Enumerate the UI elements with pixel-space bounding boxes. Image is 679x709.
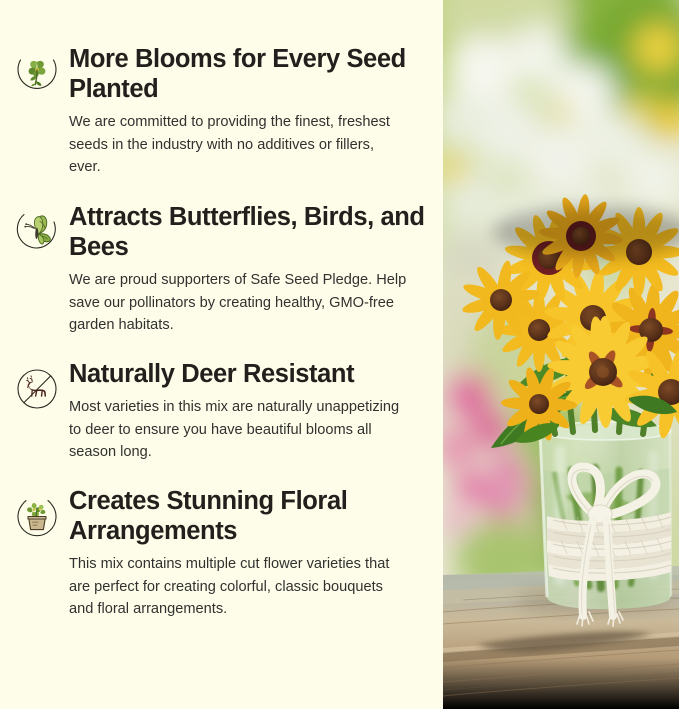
feature-description: We are proud supporters of Safe Seed Ple…: [69, 269, 409, 337]
feature-description: Most varieties in this mix are naturally…: [69, 396, 409, 464]
feature-text: Attracts Butterflies, Birds, and Bees We…: [69, 202, 443, 337]
black-eyed-susan-bouquet-photo: [443, 0, 679, 709]
feature-item-deer-resistant: Naturally Deer Resistant Most varieties …: [0, 359, 443, 464]
butterfly-icon: [4, 202, 69, 256]
features-list: More Blooms for Every Seed Planted We ar…: [0, 0, 443, 709]
feature-title: More Blooms for Every Seed Planted: [69, 44, 425, 104]
feature-item-attracts-pollinators: Attracts Butterflies, Birds, and Bees We…: [0, 202, 443, 337]
feature-description: We are committed to providing the finest…: [69, 111, 409, 179]
feature-title: Naturally Deer Resistant: [69, 359, 425, 389]
feature-text: Naturally Deer Resistant Most varieties …: [69, 359, 443, 464]
feature-title: Creates Stunning Floral Arrangements: [69, 486, 425, 546]
feature-title: Attracts Butterflies, Birds, and Bees: [69, 202, 425, 262]
product-feature-panel: More Blooms for Every Seed Planted We ar…: [0, 0, 679, 709]
feature-description: This mix contains multiple cut flower va…: [69, 553, 409, 621]
feature-item-more-blooms: More Blooms for Every Seed Planted We ar…: [0, 44, 443, 179]
potted-plant-icon: [4, 486, 69, 540]
flower-bloom-icon: [4, 44, 69, 98]
no-deer-icon: [4, 359, 69, 413]
feature-text: More Blooms for Every Seed Planted We ar…: [69, 44, 443, 179]
feature-text: Creates Stunning Floral Arrangements Thi…: [69, 486, 443, 621]
feature-item-floral-arrangements: Creates Stunning Floral Arrangements Thi…: [0, 486, 443, 621]
